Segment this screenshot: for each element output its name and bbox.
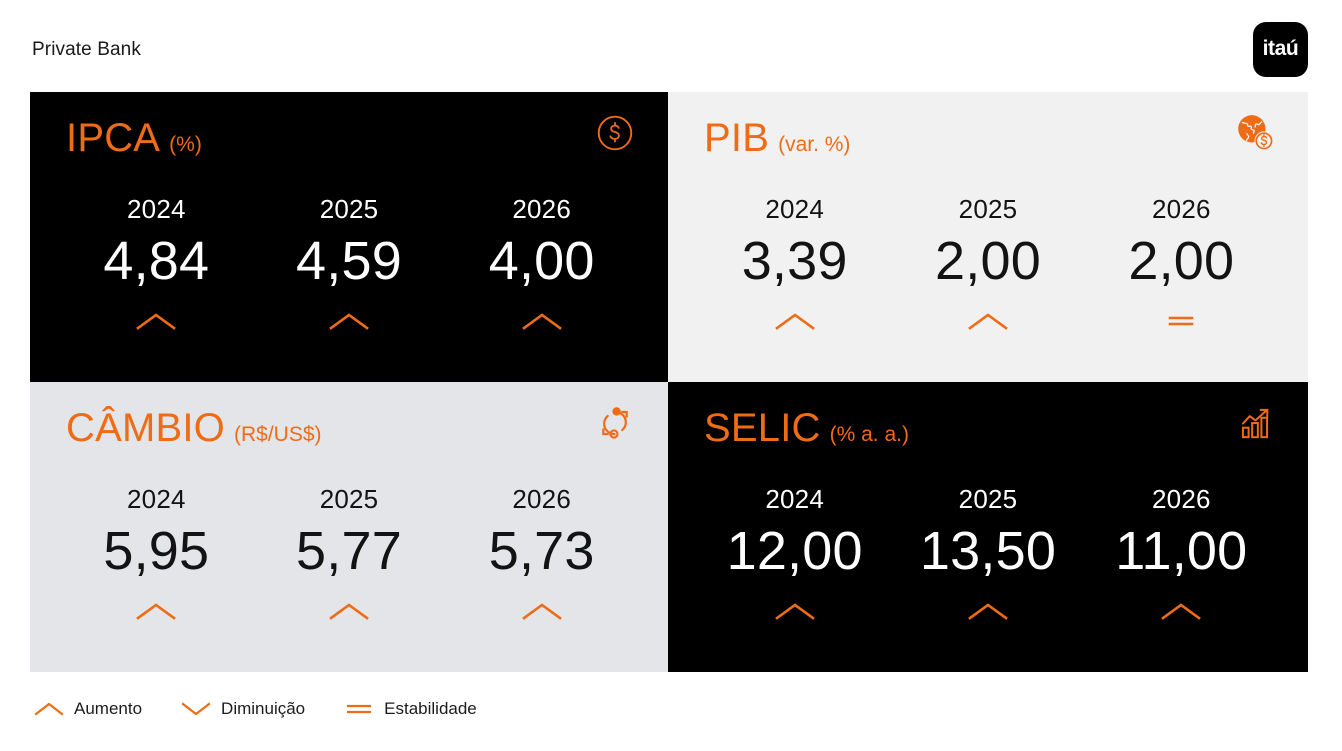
trend-up-icon <box>698 598 891 624</box>
dollar-circle-icon <box>594 112 636 154</box>
metric-year: 2026 <box>1085 482 1278 516</box>
metric-selic-2024: 2024 12,00 <box>698 482 891 624</box>
panel-ipca-subtitle: (%) <box>169 132 202 158</box>
panel-cambio-subtitle: (R$/US$) <box>234 422 322 448</box>
trend-up-icon <box>253 308 446 334</box>
panel-cambio[interactable]: CÂMBIO (R$/US$) 2024 5,95 <box>30 382 668 672</box>
metric-value: 5,73 <box>445 518 638 584</box>
panel-pib[interactable]: PIB (var. %) 2024 3,39 <box>668 92 1308 382</box>
metric-cambio-2025: 2025 5,77 <box>253 482 446 624</box>
itau-logo-text: itaú <box>1263 38 1299 61</box>
panel-ipca-header: IPCA (%) <box>66 114 638 166</box>
trend-up-icon <box>698 308 891 334</box>
legend-label: Aumento <box>74 698 142 720</box>
panel-cambio-title: CÂMBIO <box>66 404 225 452</box>
panel-ipca[interactable]: IPCA (%) 2024 4,84 2025 4,59 <box>30 92 668 382</box>
metric-year: 2026 <box>445 192 638 226</box>
panel-pib-subtitle: (var. %) <box>778 132 850 158</box>
growth-bar-chart-icon <box>1234 402 1276 444</box>
panel-pib-title: PIB <box>704 114 769 162</box>
metric-value: 13,50 <box>891 518 1084 584</box>
globe-dollar-icon <box>1234 112 1276 154</box>
trend-stable-icon <box>1085 308 1278 334</box>
itau-logo: itaú <box>1253 22 1308 77</box>
panel-selic-metrics: 2024 12,00 2025 13,50 2026 11,00 <box>698 482 1278 624</box>
metric-value: 5,77 <box>253 518 446 584</box>
trend-up-icon <box>891 598 1084 624</box>
panel-pib-metrics: 2024 3,39 2025 2,00 2026 2,00 <box>698 192 1278 334</box>
panel-ipca-title: IPCA <box>66 114 160 162</box>
metric-pib-2025: 2025 2,00 <box>891 192 1084 334</box>
trend-up-icon <box>60 598 253 624</box>
legend-item-diminuicao: Diminuição <box>180 698 305 720</box>
chevron-down-icon <box>180 698 212 720</box>
metric-cambio-2026: 2026 5,73 <box>445 482 638 624</box>
trend-legend: Aumento Diminuição Estabilidade <box>33 698 515 720</box>
metric-value: 4,00 <box>445 228 638 294</box>
metric-year: 2024 <box>698 482 891 516</box>
metric-pib-2024: 2024 3,39 <box>698 192 891 334</box>
metric-value: 2,00 <box>891 228 1084 294</box>
dashboard-page: Private Bank itaú IPCA (%) 2024 4,84 <box>0 0 1342 751</box>
metric-year: 2025 <box>253 482 446 516</box>
metric-year: 2024 <box>60 482 253 516</box>
page-header: Private Bank itaú <box>0 0 1342 92</box>
metric-year: 2024 <box>60 192 253 226</box>
metric-year: 2026 <box>445 482 638 516</box>
metric-selic-2025: 2025 13,50 <box>891 482 1084 624</box>
metric-year: 2025 <box>253 192 446 226</box>
metric-selic-2026: 2026 11,00 <box>1085 482 1278 624</box>
metric-year: 2024 <box>698 192 891 226</box>
metric-pib-2026: 2026 2,00 <box>1085 192 1278 334</box>
panel-selic-header: SELIC (% a. a.) <box>704 404 1278 456</box>
chevron-up-icon <box>33 698 65 720</box>
metric-value: 4,59 <box>253 228 446 294</box>
metric-value: 4,84 <box>60 228 253 294</box>
equals-icon <box>343 698 375 720</box>
panel-pib-header: PIB (var. %) <box>704 114 1278 166</box>
metric-ipca-2024: 2024 4,84 <box>60 192 253 334</box>
trend-up-icon <box>253 598 446 624</box>
panel-cambio-header: CÂMBIO (R$/US$) <box>66 404 638 456</box>
trend-up-icon <box>1085 598 1278 624</box>
metric-year: 2025 <box>891 482 1084 516</box>
panel-selic-subtitle: (% a. a.) <box>830 422 909 448</box>
metric-value: 12,00 <box>698 518 891 584</box>
trend-up-icon <box>445 308 638 334</box>
legend-label: Diminuição <box>221 698 305 720</box>
panel-selic[interactable]: SELIC (% a. a.) 2024 12,00 <box>668 382 1308 672</box>
trend-up-icon <box>891 308 1084 334</box>
legend-item-estabilidade: Estabilidade <box>343 698 477 720</box>
trend-up-icon <box>60 308 253 334</box>
metric-cambio-2024: 2024 5,95 <box>60 482 253 624</box>
metric-year: 2026 <box>1085 192 1278 226</box>
currency-exchange-icon <box>594 402 636 444</box>
panel-ipca-metrics: 2024 4,84 2025 4,59 2026 4,00 <box>60 192 638 334</box>
panel-selic-title: SELIC <box>704 404 821 452</box>
trend-up-icon <box>445 598 638 624</box>
metric-ipca-2026: 2026 4,00 <box>445 192 638 334</box>
metric-value: 2,00 <box>1085 228 1278 294</box>
indicator-grid: IPCA (%) 2024 4,84 2025 4,59 <box>30 92 1308 672</box>
metric-value: 11,00 <box>1085 518 1278 584</box>
panel-cambio-metrics: 2024 5,95 2025 5,77 2026 5,73 <box>60 482 638 624</box>
metric-value: 3,39 <box>698 228 891 294</box>
metric-value: 5,95 <box>60 518 253 584</box>
metric-year: 2025 <box>891 192 1084 226</box>
legend-item-aumento: Aumento <box>33 698 142 720</box>
legend-label: Estabilidade <box>384 698 477 720</box>
metric-ipca-2025: 2025 4,59 <box>253 192 446 334</box>
page-title: Private Bank <box>32 38 141 62</box>
